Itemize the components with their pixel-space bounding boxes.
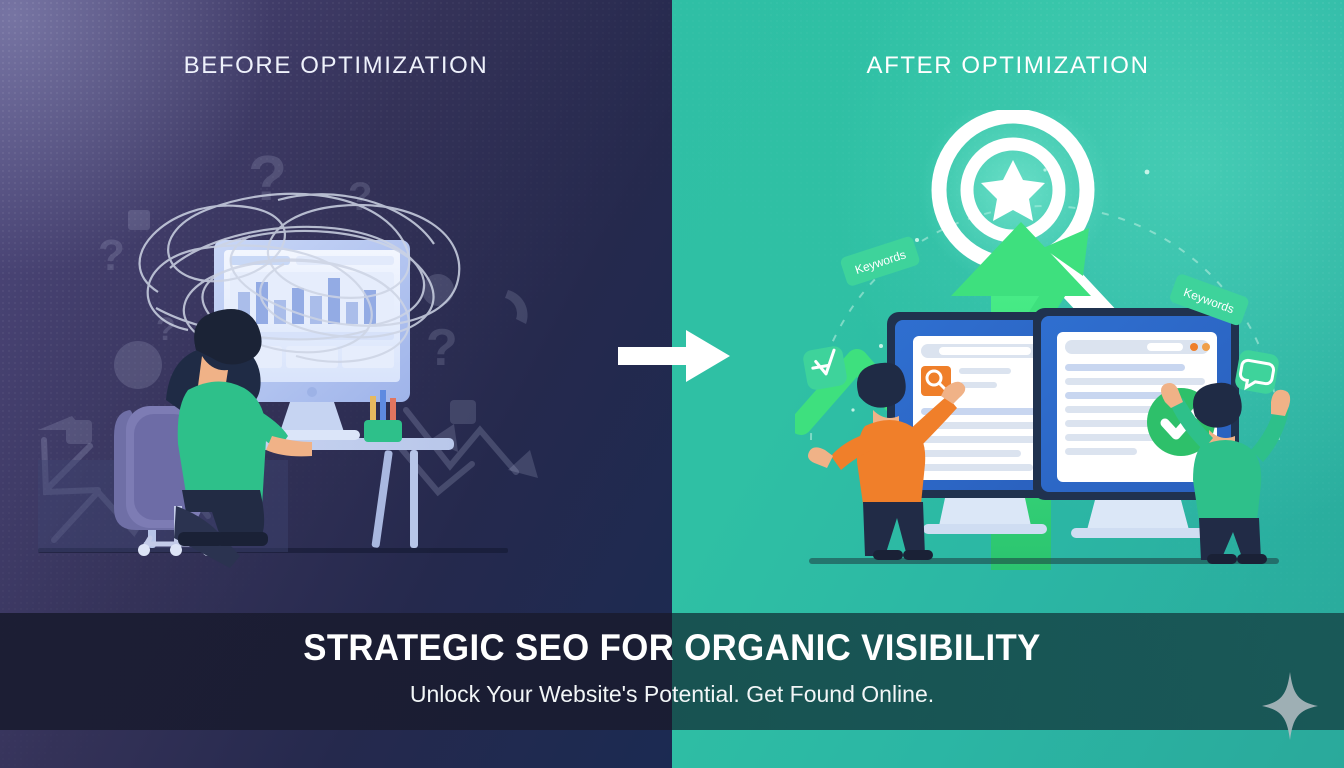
svg-text:?: ? (426, 319, 458, 377)
infographic-canvas: ? ? ? ? ? (0, 0, 1344, 768)
svg-text:?: ? (98, 231, 125, 280)
keyword-tag-left: Keywords (839, 235, 921, 287)
illustration-before: ? ? ? ? ? (38, 140, 598, 585)
checklist-badge (802, 345, 848, 391)
transition-arrow-icon (618, 330, 730, 382)
four-point-sparkle-icon (1262, 672, 1318, 740)
bottom-banner: STRATEGIC SEO FOR ORGANIC VISIBILITY Unl… (0, 613, 1344, 730)
header-before: BEFORE OPTIMIZATION (0, 52, 672, 80)
banner-subtitle: Unlock Your Website's Potential. Get Fou… (0, 681, 1344, 708)
banner-title: STRATEGIC SEO FOR ORGANIC VISIBILITY (40, 627, 1303, 669)
illustration-after: Keywords Keywords (795, 110, 1295, 580)
header-after: AFTER OPTIMIZATION (672, 52, 1344, 80)
svg-text:?: ? (248, 142, 287, 214)
chat-badge (1234, 349, 1280, 395)
